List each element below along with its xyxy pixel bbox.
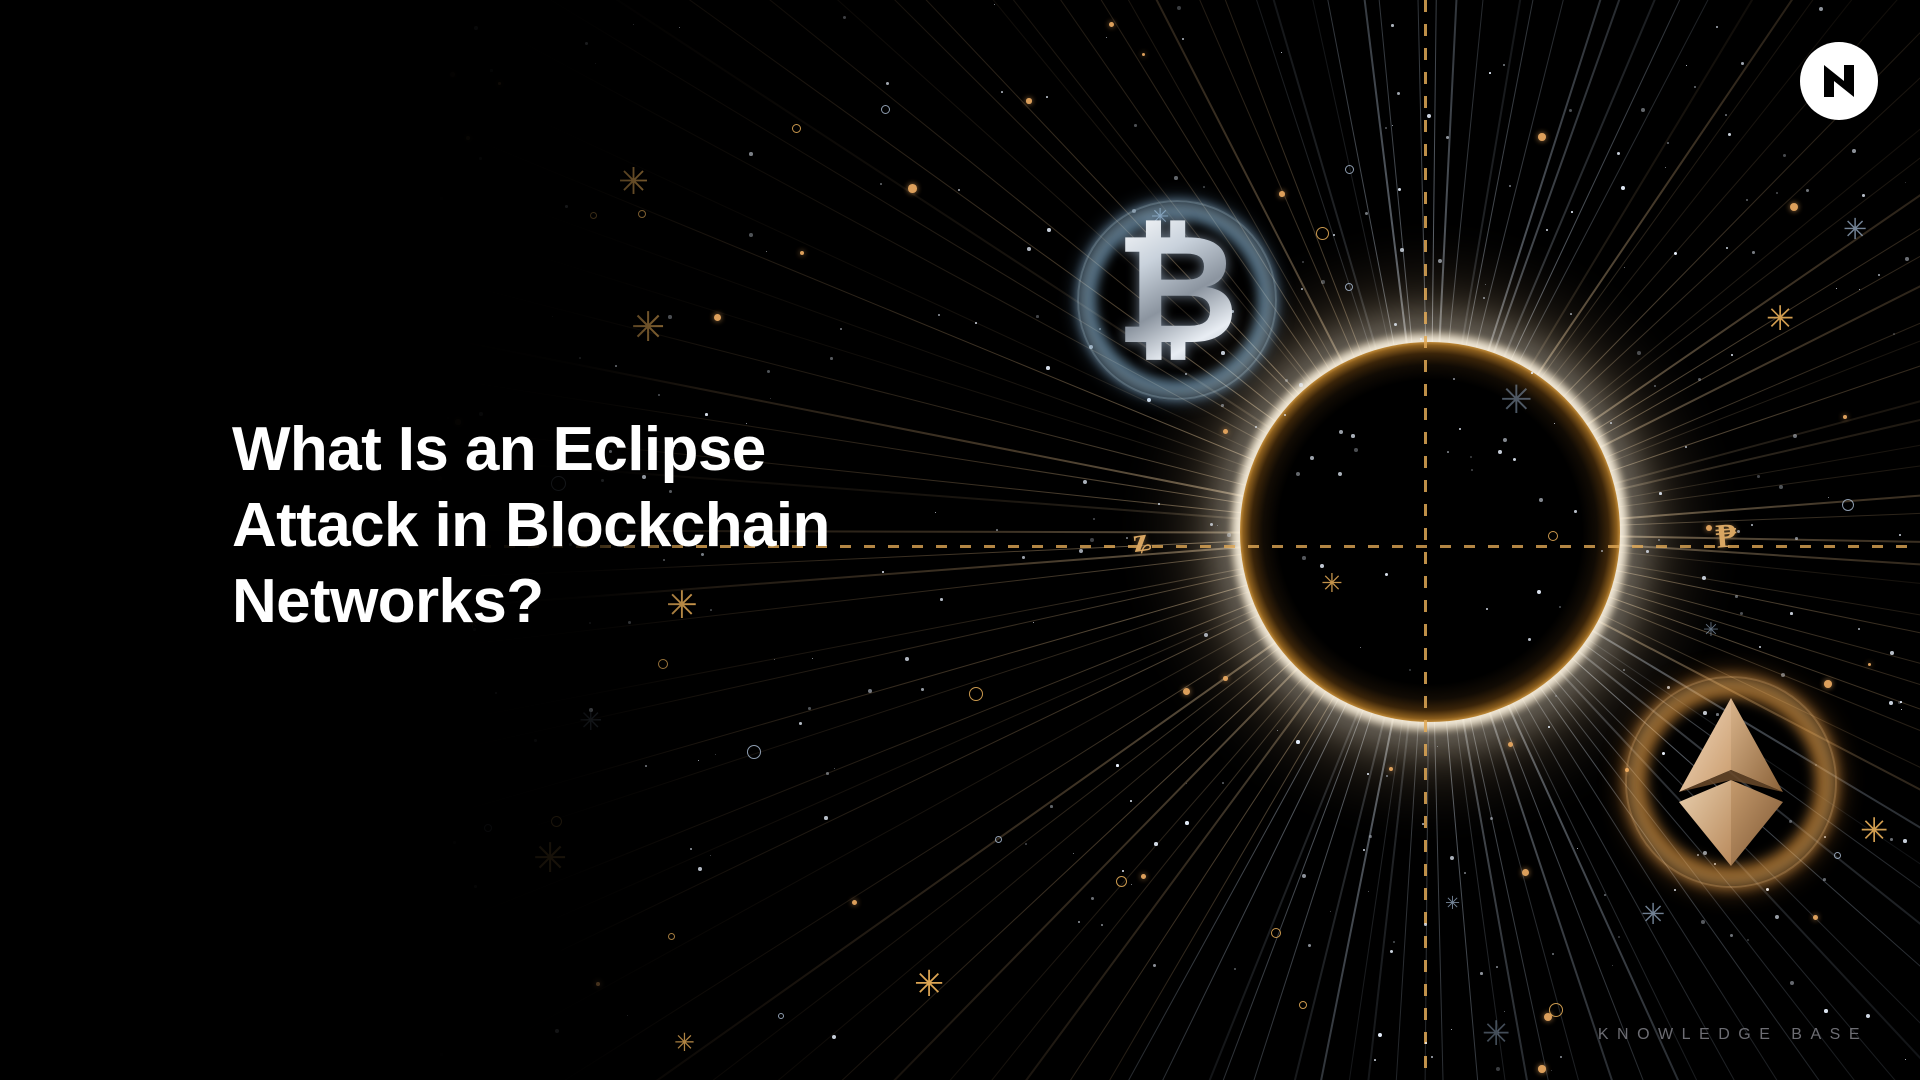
star-dot — [1698, 378, 1701, 381]
star-dot — [474, 26, 478, 30]
star-dot — [1392, 125, 1393, 126]
amber-dot — [1109, 22, 1114, 27]
eclipse-disc — [1240, 342, 1620, 722]
star-dot — [221, 110, 224, 113]
star-dot — [1793, 434, 1797, 438]
star-dot — [1033, 622, 1034, 623]
star-dot — [1781, 673, 1785, 677]
star-dot — [401, 1070, 404, 1073]
star-dot — [319, 995, 321, 997]
star-dot — [1702, 576, 1706, 580]
star-dot — [1369, 835, 1372, 838]
star-dot — [1438, 259, 1442, 263]
star-dot — [658, 394, 660, 396]
star-dot — [364, 708, 367, 711]
star-dot — [1398, 188, 1401, 191]
star-dot — [1447, 451, 1449, 453]
star-dot — [905, 657, 909, 661]
star-dot — [1354, 448, 1358, 452]
star-dot — [1503, 64, 1505, 66]
sparkle-icon: ✳ — [1500, 381, 1533, 420]
star-dot — [627, 1015, 628, 1016]
star-dot — [1893, 333, 1895, 335]
star-dot — [938, 314, 940, 316]
sparkle-icon: ✳ — [631, 307, 665, 348]
star-dot — [552, 316, 553, 317]
star-dot — [417, 1062, 419, 1064]
star-dot — [440, 1053, 443, 1056]
star-dot — [1154, 842, 1158, 846]
star-dot — [1898, 701, 1901, 704]
amber-dot — [417, 879, 425, 887]
sparkle-icon: ✳ — [1766, 302, 1795, 336]
star-dot — [224, 909, 226, 911]
brand-logo[interactable] — [1800, 42, 1878, 120]
star-dot — [886, 82, 889, 85]
star-dot — [334, 815, 335, 816]
star-dot — [1333, 234, 1335, 236]
star-dot — [843, 16, 846, 19]
star-dot — [408, 28, 409, 29]
star-dot — [1385, 127, 1387, 129]
sparkle-icon: ✳ — [1321, 571, 1343, 597]
star-dot — [1450, 856, 1454, 860]
ring-speck — [1842, 499, 1854, 511]
star-dot — [1299, 383, 1303, 387]
amber-dot — [596, 982, 600, 986]
star-dot — [311, 380, 312, 381]
star-dot — [217, 584, 219, 586]
star-dot — [383, 695, 386, 698]
star-dot — [1730, 934, 1733, 937]
star-dot — [490, 69, 493, 72]
star-dot — [317, 1004, 321, 1008]
star-dot — [1177, 6, 1181, 10]
star-dot — [749, 233, 753, 237]
star-dot — [1320, 564, 1324, 568]
star-dot — [1905, 182, 1906, 183]
star-dot — [1852, 149, 1856, 153]
star-dot — [1106, 37, 1107, 38]
star-dot — [1806, 189, 1809, 192]
star-dot — [1866, 1014, 1870, 1018]
ring-speck — [484, 824, 492, 832]
star-dot — [1728, 133, 1731, 136]
star-dot — [1122, 870, 1124, 872]
star-dot — [150, 247, 151, 248]
star-dot — [1221, 404, 1224, 407]
star-dot — [921, 688, 924, 691]
star-dot — [1674, 889, 1676, 891]
amber-dot — [908, 184, 917, 193]
star-dot — [1646, 550, 1649, 553]
star-dot — [23, 543, 24, 544]
star-dot — [770, 398, 771, 399]
amber-dot — [251, 15, 256, 20]
star-dot — [1489, 72, 1491, 74]
star-dot — [129, 439, 132, 442]
star-dot — [1775, 915, 1779, 919]
star-dot — [212, 208, 213, 209]
star-dot — [975, 322, 977, 324]
star-dot — [1210, 523, 1213, 526]
sparkle-icon: ✳ — [1641, 900, 1665, 929]
star-dot — [286, 965, 289, 968]
star-dot — [137, 601, 138, 602]
star-dot — [534, 739, 537, 742]
star-dot — [1551, 1070, 1552, 1071]
amber-dot — [498, 82, 501, 85]
star-dot — [179, 447, 181, 449]
star-dot — [1735, 595, 1738, 598]
star-dot — [1393, 941, 1395, 943]
star-dot — [645, 765, 647, 767]
star-dot — [1378, 1033, 1382, 1037]
star-dot — [1571, 211, 1573, 213]
logo-n-icon — [1817, 59, 1861, 103]
star-dot — [710, 855, 711, 856]
star-dot — [1569, 109, 1572, 112]
star-dot — [880, 183, 882, 185]
amber-dot — [1538, 133, 1546, 141]
amber-dot — [1142, 53, 1145, 56]
star-dot — [1431, 1056, 1433, 1058]
star-dot — [1905, 1059, 1906, 1060]
star-dot — [1126, 537, 1128, 539]
star-dot — [1374, 1059, 1376, 1061]
amber-dot — [1223, 676, 1228, 681]
star-dot — [1905, 257, 1909, 261]
sparkle-icon: ✳ — [1860, 814, 1889, 848]
amber-dot — [466, 136, 470, 140]
star-dot — [1546, 229, 1548, 231]
star-dot — [1185, 821, 1189, 825]
star-dot — [1036, 315, 1039, 318]
star-dot — [1890, 838, 1893, 841]
ring-speck — [778, 1013, 784, 1019]
star-dot — [1752, 251, 1755, 254]
star-dot — [1025, 843, 1027, 845]
amber-dot — [1389, 767, 1393, 771]
amber-dot — [1141, 874, 1146, 879]
star-dot — [1878, 274, 1880, 276]
star-dot — [225, 9, 228, 12]
star-dot — [1330, 911, 1331, 912]
star-dot — [1658, 539, 1660, 541]
star-dot — [996, 529, 998, 531]
sparkle-icon: ✳ — [1445, 895, 1460, 913]
star-dot — [1858, 628, 1860, 630]
star-dot — [633, 24, 634, 25]
star-dot — [142, 266, 145, 269]
star-dot — [1637, 351, 1641, 355]
star-dot — [1047, 228, 1051, 232]
star-dot — [1899, 534, 1901, 536]
star-dot — [1234, 968, 1236, 970]
star-dot — [1513, 458, 1516, 461]
star-dot — [1612, 965, 1613, 966]
ring-speck — [1345, 283, 1353, 291]
star-dot — [1425, 1042, 1427, 1044]
sparkle-icon: ✳ — [674, 1030, 695, 1055]
star-dot — [1889, 701, 1893, 705]
star-dot — [1604, 894, 1606, 896]
amber-dot — [406, 867, 412, 873]
amber-dot — [1824, 680, 1832, 688]
star-dot — [1823, 878, 1826, 881]
star-dot — [1559, 606, 1561, 608]
amber-dot — [1279, 191, 1285, 197]
star-dot — [1862, 194, 1865, 197]
sparkle-icon: ✳ — [533, 838, 567, 879]
star-dot — [555, 1029, 559, 1033]
star-dot — [1296, 472, 1300, 476]
star-dot — [1665, 167, 1666, 168]
star-dot — [1552, 953, 1554, 955]
star-dot — [1391, 24, 1394, 27]
star-dot — [359, 857, 361, 859]
star-dot — [1301, 288, 1303, 290]
star-dot — [1281, 52, 1282, 53]
sparkle-icon: ✳ — [1703, 621, 1719, 640]
star-dot — [1001, 91, 1003, 93]
star-dot — [1836, 288, 1837, 289]
star-dot — [1610, 422, 1612, 424]
star-dot — [1504, 1011, 1505, 1012]
star-dot — [690, 848, 692, 850]
star-dot — [180, 584, 183, 587]
star-dot — [297, 86, 298, 87]
star-dot — [289, 866, 292, 869]
star-dot — [1078, 921, 1080, 923]
star-dot — [1496, 1067, 1500, 1071]
star-dot — [565, 205, 568, 208]
star-dot — [1498, 450, 1502, 454]
currency-glyph-right-icon: ₱ — [1715, 519, 1739, 555]
ring-speck — [1271, 928, 1281, 938]
ring-speck — [792, 124, 801, 133]
star-dot — [1694, 86, 1696, 88]
amber-dot — [1790, 203, 1798, 211]
star-dot — [308, 983, 311, 986]
star-dot — [1659, 492, 1662, 495]
star-dot — [1824, 1009, 1828, 1013]
star-dot — [440, 197, 443, 200]
star-dot — [1496, 966, 1498, 968]
star-dot — [1174, 176, 1178, 180]
star-dot — [369, 174, 370, 175]
star-dot — [1079, 549, 1083, 553]
star-dot — [1790, 981, 1794, 985]
amber-dot — [199, 33, 204, 38]
ring-speck — [969, 687, 983, 701]
ring-speck — [1834, 852, 1841, 859]
ring-speck — [1549, 1003, 1563, 1017]
amber-dot — [1183, 688, 1190, 695]
amber-dot — [1538, 1065, 1546, 1073]
star-dot — [1795, 537, 1798, 540]
star-dot — [474, 885, 477, 888]
star-dot — [1131, 884, 1132, 885]
sparkle-icon: ✳ — [140, 505, 163, 533]
star-dot — [834, 768, 835, 769]
star-dot — [1819, 7, 1823, 11]
star-dot — [1617, 152, 1620, 155]
star-dot — [1903, 839, 1907, 843]
star-dot — [1726, 247, 1728, 249]
ring-speck — [1345, 165, 1354, 174]
star-dot — [1427, 114, 1431, 118]
star-dot — [292, 217, 293, 218]
star-dot — [1182, 38, 1184, 40]
ring-speck — [658, 659, 668, 669]
star-dot — [1480, 972, 1483, 975]
star-dot — [698, 760, 699, 761]
star-dot — [1783, 154, 1786, 157]
ring-speck — [668, 933, 675, 940]
sparkle-icon: ✳ — [224, 811, 261, 855]
star-dot — [774, 659, 775, 660]
star-dot — [994, 4, 995, 5]
amber-dot — [265, 29, 271, 35]
star-dot — [1091, 897, 1094, 900]
star-dot — [1302, 556, 1306, 560]
star-dot — [1621, 186, 1625, 190]
star-dot — [1073, 853, 1074, 854]
ethereum-icon — [1671, 696, 1791, 868]
star-dot — [199, 486, 200, 487]
star-dot — [1548, 726, 1550, 728]
star-dot — [595, 63, 596, 64]
star-dot — [495, 692, 497, 694]
star-dot — [1531, 372, 1533, 374]
star-dot — [1390, 950, 1393, 953]
star-dot — [431, 390, 434, 393]
star-dot — [1050, 805, 1053, 808]
star-dot — [479, 157, 482, 160]
star-dot — [1400, 248, 1404, 252]
star-dot — [323, 835, 326, 838]
star-dot — [1779, 485, 1783, 489]
star-dot — [1623, 669, 1625, 671]
ring-speck — [590, 212, 597, 219]
star-dot — [1790, 612, 1793, 615]
amber-dot — [450, 72, 455, 77]
star-dot — [1227, 533, 1231, 537]
star-dot — [1747, 939, 1749, 941]
page-title-line-3: Networks? — [232, 564, 992, 640]
star-dot — [824, 816, 828, 820]
star-dot — [1716, 26, 1718, 28]
star-dot — [1701, 920, 1705, 924]
star-dot — [271, 27, 272, 28]
star-dot — [1424, 923, 1427, 926]
star-dot — [1027, 247, 1031, 251]
star-dot — [832, 1035, 836, 1039]
star-dot — [1746, 199, 1748, 201]
star-dot — [1101, 924, 1103, 926]
sparkle-icon: ✳ — [1843, 215, 1867, 244]
star-dot — [1464, 872, 1466, 874]
star-dot — [109, 789, 112, 792]
star-dot — [767, 370, 770, 373]
star-dot — [1757, 475, 1760, 478]
star-dot — [1153, 964, 1156, 967]
star-dot — [162, 241, 165, 244]
star-dot — [453, 841, 456, 844]
ring-speck — [1116, 876, 1127, 887]
vertical-dashed-guide — [1424, 0, 1427, 1080]
sparkle-icon: ✳ — [618, 163, 649, 200]
page-title-line-2: Attack in Blockchain — [232, 488, 992, 564]
ring-speck — [995, 836, 1002, 843]
star-dot — [1422, 823, 1424, 825]
star-dot — [840, 328, 842, 330]
ring-speck — [551, 816, 562, 827]
star-dot — [830, 357, 833, 360]
sparkle-icon: ✳ — [175, 119, 188, 135]
star-dot — [1890, 651, 1894, 655]
amber-dot — [1026, 98, 1032, 104]
star-dot — [1686, 65, 1687, 66]
amber-dot — [1843, 415, 1847, 419]
sparkle-icon: ✳ — [914, 967, 944, 1003]
star-dot — [1222, 782, 1224, 784]
star-dot — [1901, 709, 1902, 710]
star-dot — [1203, 186, 1205, 188]
star-dot — [1641, 108, 1645, 112]
sparkle-icon: ✳ — [194, 372, 218, 401]
star-dot — [1134, 124, 1137, 127]
star-dot — [812, 658, 813, 659]
ring-speck — [1316, 227, 1329, 240]
star-dot — [1574, 510, 1577, 513]
knowledge-base-banner: ✳✳✳✳✳✳✳✳✳✳✳✳✳✳✳✳✳✳✳✳✳✳✳✳ ʑ ₱ ₿ — [0, 0, 1920, 1080]
star-dot — [1766, 888, 1769, 891]
star-dot — [1296, 740, 1300, 744]
star-dot — [196, 946, 200, 950]
ring-speck — [1548, 531, 1558, 541]
star-dot — [1725, 114, 1727, 116]
ring-speck — [638, 210, 646, 218]
sparkle-icon: ✳ — [1482, 1017, 1511, 1051]
amber-dot — [1868, 663, 1871, 666]
star-dot — [1022, 556, 1025, 559]
amber-dot — [202, 918, 208, 924]
star-dot — [668, 315, 672, 319]
amber-dot — [150, 475, 157, 482]
page-title-line-1: What Is an Eclipse — [232, 412, 992, 488]
amber-dot — [714, 314, 721, 321]
star-dot — [1618, 936, 1620, 938]
star-dot — [1470, 456, 1472, 458]
star-dot — [766, 251, 767, 252]
star-dot — [1090, 538, 1094, 542]
star-dot — [1828, 497, 1829, 498]
star-dot — [1776, 192, 1778, 194]
star-dot — [151, 347, 154, 350]
star-dot — [1204, 633, 1208, 637]
star-dot — [1116, 764, 1119, 767]
ring-speck — [881, 105, 890, 114]
bitcoin-icon: ₿ — [1115, 214, 1239, 366]
star-dot — [1751, 524, 1753, 526]
knowledge-base-tag: Knowledge Base — [1598, 1026, 1868, 1044]
amber-dot — [1813, 915, 1818, 920]
sparkle-icon: ✳ — [162, 764, 175, 780]
star-dot — [292, 231, 295, 234]
star-dot — [799, 722, 802, 725]
